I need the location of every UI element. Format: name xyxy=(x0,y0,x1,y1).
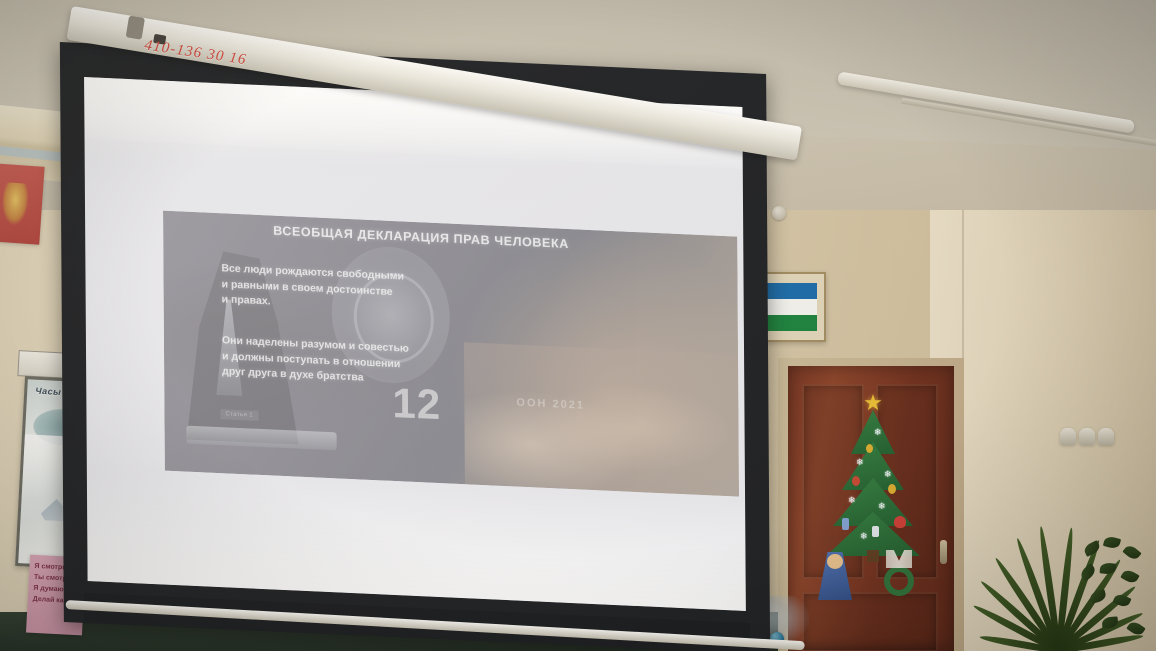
plant-leaf xyxy=(1122,543,1141,562)
slide-paragraph-2: Они наделены разумом и совестьюи должны … xyxy=(222,333,409,388)
audience-area xyxy=(464,342,739,496)
tree-trunk xyxy=(867,550,879,562)
tree-ornament xyxy=(872,526,879,537)
tree-ornament xyxy=(888,484,896,494)
tree-ornament xyxy=(866,444,873,453)
snowflake-icon: ❄ xyxy=(884,470,892,479)
leafy-plant xyxy=(1078,535,1156,651)
wreath-bow xyxy=(886,550,912,568)
felt-christmas-tree: ★ ❄ ❄ ❄ ❄ ❄ ❄ ❄ xyxy=(826,392,920,560)
door-panel xyxy=(802,592,938,651)
snowflake-icon: ❄ xyxy=(856,458,864,467)
tree-ornament-santa-hat xyxy=(894,516,906,528)
plant-leaf xyxy=(1089,589,1107,604)
classroom-photo: Часы Я смотрю Ты смотри Я думаю Делай ка… xyxy=(0,0,1156,651)
motion-sensor-icon xyxy=(772,206,786,220)
snowflake-icon: ❄ xyxy=(878,502,886,511)
plant-leaf xyxy=(1102,616,1119,628)
projection-surface: 12 ООН 2021 ВСЕОБЩАЯ ДЕКЛАРАЦИЯ ПРАВ ЧЕЛ… xyxy=(84,77,746,611)
plant-leaf xyxy=(1082,540,1101,557)
tree-ornament xyxy=(842,518,849,530)
tree-ornament xyxy=(852,476,860,486)
plant-leaf xyxy=(1100,562,1117,574)
plant-leaf xyxy=(1112,592,1131,609)
wreath-ring xyxy=(884,566,914,596)
slide-caption: Статья 1 xyxy=(220,409,258,421)
plant-leaf xyxy=(1126,619,1145,637)
wall-lamp-fixture xyxy=(1060,428,1114,445)
plant-leaf xyxy=(1120,568,1139,586)
snowflake-icon: ❄ xyxy=(860,532,868,541)
plant-leaf xyxy=(1103,535,1121,550)
poster-title: Часы xyxy=(35,386,62,397)
mount-bracket xyxy=(126,15,145,39)
plant-leaf xyxy=(1078,563,1097,582)
snowflake-icon: ❄ xyxy=(848,496,856,505)
slide-paragraph-1: Все люди рождаются свободнымии равными в… xyxy=(221,261,404,316)
russian-coat-of-arms-icon xyxy=(0,163,45,244)
presentation-slide: 12 ООН 2021 ВСЕОБЩАЯ ДЕКЛАРАЦИЯ ПРАВ ЧЕЛ… xyxy=(163,211,739,497)
door-handle[interactable] xyxy=(940,540,947,564)
christmas-wreath-decoration xyxy=(880,550,918,598)
snowflake-icon: ❄ xyxy=(874,428,882,437)
